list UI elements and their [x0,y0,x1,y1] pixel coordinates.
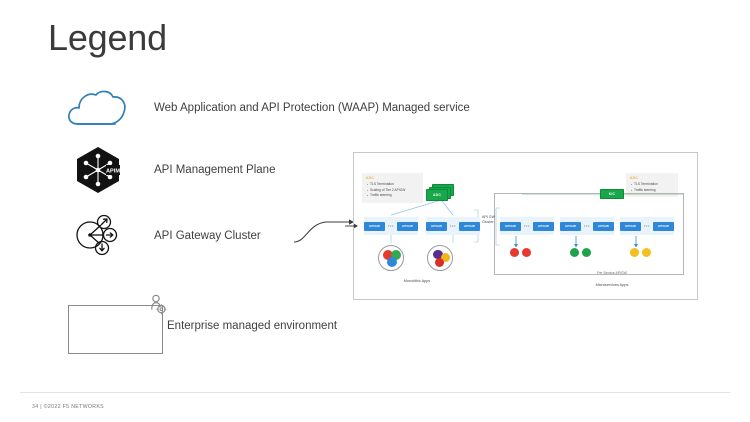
legend-item-api-gateway-cluster: API Gateway Cluster [60,210,261,262]
microservice-dot-pair [510,248,531,257]
cloud-icon-wrap [60,82,132,134]
apigw-group: APIGW ••• APIGW [426,217,480,235]
apigw-box: APIGW [533,222,554,231]
legend-item-api-management-plane: APIM API Management Plane [60,144,275,196]
apim-hexagon-icon: APIM [74,146,122,194]
microservice-dot [630,248,639,257]
monolithic-app-circle [378,245,404,271]
enterprise-boundary-icon [68,305,163,353]
legend-item-label: Enterprise managed environment [167,320,337,332]
apim-badge-text: APIM [106,168,120,174]
kic-box: KIC [600,189,624,199]
adc-stack-icon: ADC ADC ADC [426,184,454,201]
ellipsis-icon: ••• [450,224,456,228]
apigw-box: APIGW [500,222,521,231]
apigw-box: APIGW [459,222,480,231]
monolithic-app-circle [427,245,453,271]
microservices-apps-label: Microservices Apps [552,283,672,287]
slide-root: Legend Web Application and API Protectio… [0,0,750,422]
microservice-dot [570,248,579,257]
apigw-box: APIGW [397,222,418,231]
apigw-box: APIGW [653,222,674,231]
app-blob [387,257,397,267]
apigw-box: APIGW [560,222,581,231]
apigw-group: APIGW ••• APIGW [500,217,554,235]
cloud-icon [66,86,128,130]
legend-item-label: Web Application and API Protection (WAAP… [154,102,470,114]
api-gateway-cluster-icon [72,210,124,260]
legend-item-waap: Web Application and API Protection (WAAP… [60,82,470,134]
microservice-dot-pair [570,248,591,257]
ellipsis-icon: ••• [584,224,590,228]
cluster-label-line2: Cluster [482,220,495,225]
microservice-dot [642,248,651,257]
app-blob [435,258,445,268]
microservice-dot [510,248,519,257]
microservice-dot [582,248,591,257]
microservice-dot [522,248,531,257]
ellipsis-icon: ••• [644,224,650,228]
monolithic-apps-label: Monolithic Apps [372,279,462,283]
apim-icon-wrap: APIM [60,144,132,196]
ellipsis-icon: ••• [524,224,530,228]
ellipsis-icon: ••• [388,224,394,228]
apigw-box: APIGW [593,222,614,231]
page-title: Legend [48,18,167,58]
legend-item-label: API Gateway Cluster [154,230,261,242]
legend-item-label: API Management Plane [154,164,275,176]
footer-text: 34 | ©2022 F5 NETWORKS [32,404,104,410]
footer-divider [20,392,730,393]
person-gear-icon [146,293,170,317]
adc-box-front: ADC [426,189,448,201]
apigw-box: APIGW [364,222,385,231]
apigw-group: APIGW ••• APIGW [620,217,674,235]
apigw-group: APIGW ••• APIGW [560,217,614,235]
api-gw-cluster-label: API GW Cluster [482,215,495,226]
apigw-group: APIGW ••• APIGW [364,217,418,235]
apigw-box: APIGW [426,222,447,231]
gateway-icon-wrap [60,210,132,262]
microservice-dot-pair [630,248,651,257]
architecture-diagram: ADC TLS Termination Scaling of Tier 2 AP… [353,152,698,300]
connector-arrow-icon [292,218,362,248]
per-service-apigw-label: Per Service APIGW [552,271,672,275]
apigw-box: APIGW [620,222,641,231]
